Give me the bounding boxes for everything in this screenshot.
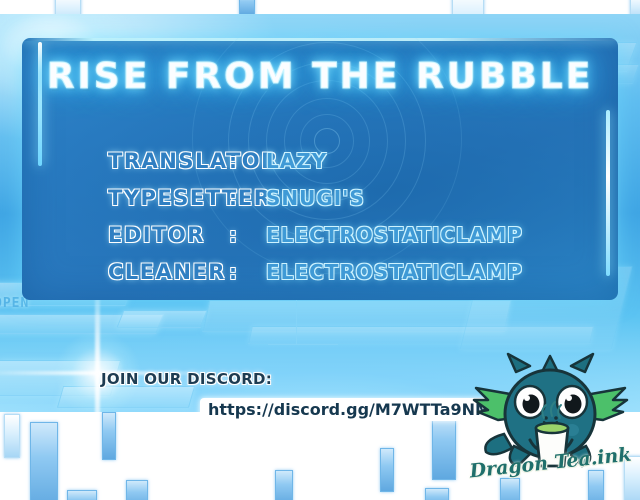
credit-row: TYPESETTER : SNUGI'S (0, 179, 640, 216)
decor-bar (67, 490, 97, 500)
credit-separator: : (222, 149, 244, 173)
credit-role: TRANSLATOR (0, 149, 222, 173)
lens-flare-glow (38, 314, 158, 412)
dragon-mascot-logo: Dragon Tea.ink (468, 348, 633, 496)
credit-name: ELECTROSTATICLAMP (244, 260, 640, 284)
credit-role: TYPESETTER (0, 186, 222, 210)
decor-bar (126, 480, 148, 500)
tech-line (268, 344, 338, 345)
credit-name: LAZY (244, 149, 640, 173)
credit-row: CLEANER : ELECTROSTATICLAMP (0, 253, 640, 290)
credits-page: OPEN RISE FROM THE RUBBLE TRANSLATOR : L… (0, 0, 640, 500)
decor-bar (432, 412, 456, 480)
decor-bar (275, 470, 293, 500)
credits-list: TRANSLATOR : LAZY TYPESETTER : SNUGI'S E… (0, 142, 640, 290)
discord-label: JOIN OUR DISCORD: (101, 370, 272, 388)
decor-bar (102, 412, 116, 460)
credit-separator: : (222, 223, 244, 247)
credit-separator: : (222, 260, 244, 284)
credit-role: EDITOR (0, 223, 222, 247)
decor-bar (30, 422, 58, 500)
discord-link[interactable]: https://discord.gg/M7WTTa9NMS (200, 398, 510, 421)
credit-name: ELECTROSTATICLAMP (244, 223, 640, 247)
credit-role: CLEANER (0, 260, 222, 284)
decor-bar (4, 414, 20, 458)
decor-bar (425, 488, 449, 500)
credit-row: TRANSLATOR : LAZY (0, 142, 640, 179)
credit-separator: : (222, 186, 244, 210)
credit-row: EDITOR : ELECTROSTATICLAMP (0, 216, 640, 253)
credit-name: SNUGI'S (244, 186, 640, 210)
decor-bar (380, 448, 394, 492)
page-title: RISE FROM THE RUBBLE (0, 56, 640, 97)
